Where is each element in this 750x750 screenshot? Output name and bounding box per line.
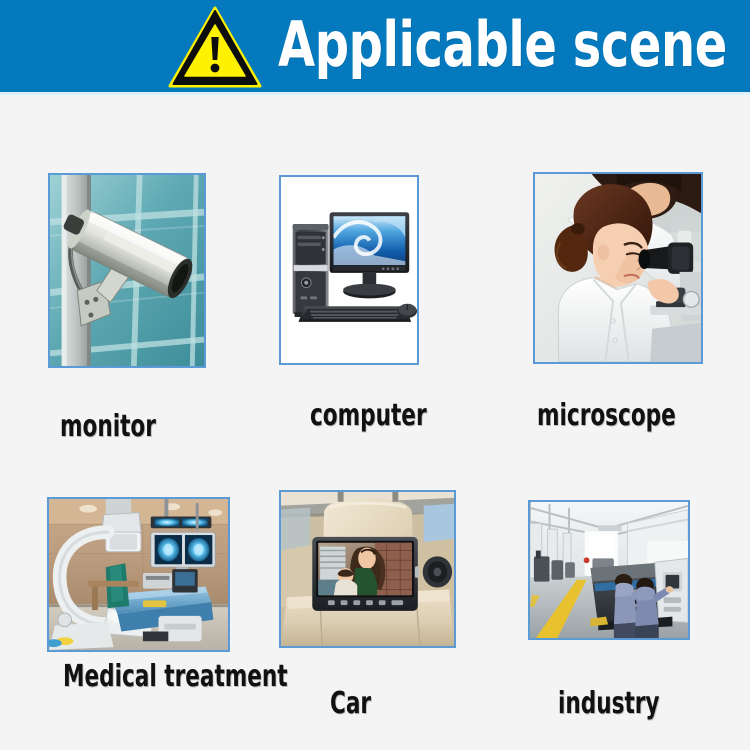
tile-image-microscope[interactable] <box>533 172 703 364</box>
tile-label-industry: industry <box>558 685 660 723</box>
page-title: Applicable scene <box>278 2 727 90</box>
tile-image-industry[interactable] <box>528 500 690 640</box>
header-banner: Applicable scene <box>0 0 750 92</box>
tile-label-microscope: microscope <box>537 397 676 435</box>
banner-underline-soft <box>0 95 750 97</box>
tile-image-computer[interactable] <box>279 175 419 365</box>
tile-label-car: Car <box>330 685 371 723</box>
tile-label-medical-text: Medical treatment <box>63 659 288 694</box>
tile-label-computer: computer <box>310 397 427 435</box>
warning-triangle-icon <box>168 6 262 90</box>
tile-image-monitor[interactable] <box>48 173 206 368</box>
tile-label-monitor: monitor <box>60 408 156 446</box>
tile-label-medical: Medical treatment <box>63 658 288 696</box>
tile-image-car[interactable] <box>279 490 456 648</box>
tile-image-medical[interactable] <box>47 497 230 652</box>
